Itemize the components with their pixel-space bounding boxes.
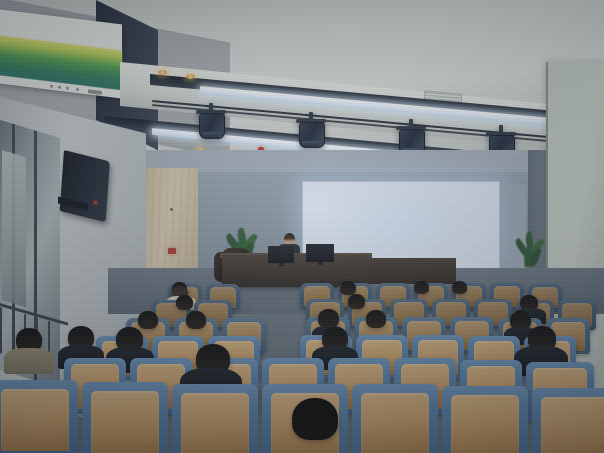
seat-back-panel xyxy=(1,389,68,451)
taskbar-icon xyxy=(66,87,69,90)
potted-plant xyxy=(516,232,546,272)
auditorium-seat[interactable] xyxy=(82,382,168,453)
spotlight-lens xyxy=(302,141,320,148)
auditorium-seat[interactable] xyxy=(0,380,78,453)
seat-back-panel xyxy=(541,397,604,453)
auditorium-seat[interactable] xyxy=(442,386,528,453)
stage-spotlight xyxy=(296,119,326,149)
auditorium-seat[interactable] xyxy=(352,384,438,453)
audience-head xyxy=(452,281,467,294)
taskbar-icon xyxy=(76,88,79,91)
ceiling-mounted-display xyxy=(0,8,122,98)
red-emergency-sign xyxy=(168,248,176,254)
desk-monitor xyxy=(268,246,294,263)
stage-spotlight xyxy=(196,110,226,140)
spotlight-lens xyxy=(202,132,220,139)
speaker-power-led xyxy=(94,201,97,204)
ceiling-downlight xyxy=(158,70,167,75)
wall-mounted-loudspeaker xyxy=(60,150,110,222)
window-glass xyxy=(2,150,26,307)
seat-back-panel xyxy=(361,393,428,453)
audience-head xyxy=(348,294,365,309)
audience-head xyxy=(366,310,386,328)
audience-head xyxy=(176,295,193,310)
railing-baluster xyxy=(0,307,2,354)
auditorium-seat[interactable] xyxy=(532,388,604,453)
auditorium-scene xyxy=(0,0,604,453)
audience-head xyxy=(414,281,429,294)
taskbar-icon xyxy=(50,85,53,88)
ceiling-downlight xyxy=(186,74,195,79)
side-desk xyxy=(370,258,456,284)
auditorium-seat[interactable] xyxy=(172,384,258,453)
audience-shoulders xyxy=(4,348,54,374)
desk-monitor xyxy=(306,244,334,262)
audience-head xyxy=(340,281,356,295)
taskbar-icon xyxy=(58,86,61,89)
seat-back-panel xyxy=(451,395,518,453)
audience-head xyxy=(292,398,338,440)
seat-back-panel xyxy=(91,391,158,453)
audience-head xyxy=(186,311,206,329)
audience-head xyxy=(138,311,158,329)
seat-back-panel xyxy=(181,393,248,453)
wall-fixing-dot xyxy=(170,208,173,211)
